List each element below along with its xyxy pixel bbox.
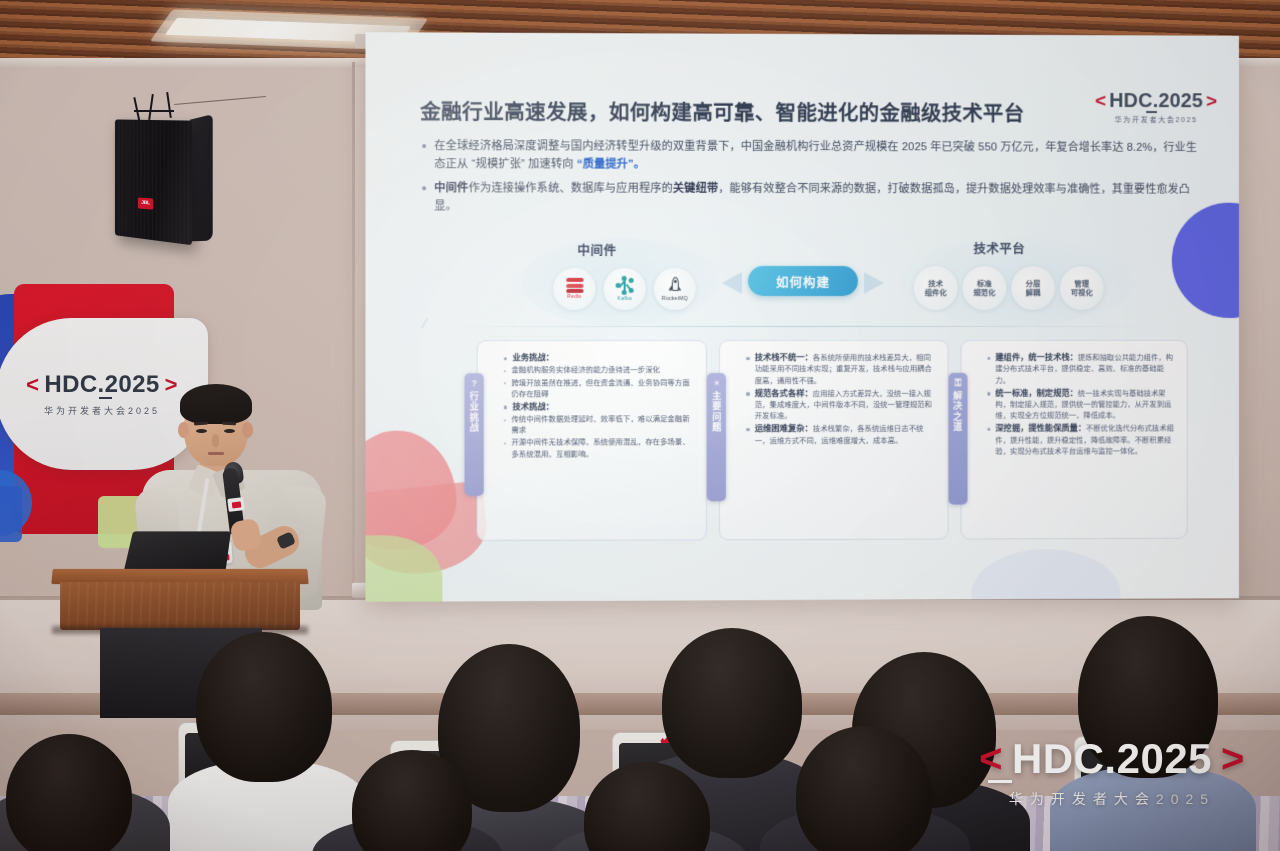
list-bullet-icon [746, 392, 749, 395]
slide-header: 金融行业高速发展，如何构建高可靠、智能进化的金融级技术平台 < HDC.2025… [420, 81, 1217, 127]
kafka-label: Kafka [617, 296, 631, 302]
panel-list-item: 技术栈不统一：各系统所使用的技术栈差异大，相同功能采用不同技术实现；重复开发，技… [746, 351, 937, 386]
capability-line1: 标准 [977, 279, 992, 288]
panel-list-item: 建组件，统一技术栈：提炼和抽取公共能力组件，构建分布式技术平台，提供稳定、高效、… [987, 351, 1177, 386]
panel-list-item: 统一标准，制定规范：统一技术实现与基础技术架构，制定接入规范，提供统一的管控能力… [987, 386, 1177, 421]
capability-chip: 管理 可视化 [1060, 266, 1104, 310]
capability-line2: 规范化 [973, 288, 995, 297]
panel-list-text: 建组件，统一技术栈：提炼和抽取公共能力组件，构建分布式技术平台，提供稳定、高效、… [995, 351, 1176, 386]
presenter-mouth [208, 452, 224, 455]
standee-blue-square [0, 486, 22, 542]
bullet-item: 中间件作为连接操作系统、数据库与应用程序的关键纽带，能够有效整合不同来源的数据，… [422, 180, 1199, 218]
panel-tab-label: 解决之道 [953, 391, 962, 431]
sun-icon: ☀ [713, 379, 721, 388]
jbl-logo-badge: JBL [138, 197, 153, 209]
speaker-rig-strap-3 [166, 92, 172, 118]
chevron-left-icon: < [26, 372, 39, 398]
panel-tab-char: 题 [712, 422, 721, 432]
panel-list-text: 深挖掘，提性能保质量：不断优化迭代分布式技术组件，提升性能，提升稳定性，降低故障… [995, 422, 1176, 457]
watermark-subtitle: 华为开发者大会2025 [962, 789, 1262, 809]
bullet-text: 中间件作为连接操作系统、数据库与应用程序的关键纽带，能够有效整合不同来源的数据，… [434, 180, 1199, 218]
chevron-right-icon: > [1221, 737, 1245, 782]
audience-member-head [796, 726, 932, 851]
panel-list-item: 规范各式各样：应用接入方式差异大，没统一接入规范，集成难度大，中间件版本不同，没… [746, 387, 937, 422]
bullet-segment: 中间件 [434, 183, 468, 195]
panel-main-problems: ☀ 主要问题 技术栈不统一：各系统所使用的技术栈差异大，相同功能采用不同技术实现… [719, 340, 948, 540]
panel-tab-char: 之 [953, 411, 962, 421]
question-mark-icon: ? [471, 379, 476, 388]
jbl-speaker: JBL [108, 92, 228, 252]
panel-list-item: 业务挑战： [504, 351, 696, 364]
microphone-flag [227, 497, 244, 512]
panel-list-text: 传统中间件数据处理延时、效率低下，难以满足金融新需求 [511, 413, 696, 436]
watermark-logo-text: HDC.2025 [1012, 735, 1212, 783]
list-bullet-icon [504, 442, 506, 444]
diagram-baseline [436, 326, 1166, 327]
audience-member-head [196, 632, 332, 782]
speaker-grille [115, 119, 192, 245]
panel-list-text: 规范各式各样：应用接入方式差异大，没统一接入规范，集成难度大，中间件版本不同，没… [755, 387, 938, 422]
chevron-right-icon: > [1206, 91, 1217, 113]
panel-tab-char: 要 [712, 402, 721, 412]
capability-line1: 技术 [928, 279, 943, 288]
panel-tab-main-problems: ☀ 主要问题 [707, 373, 726, 501]
slide-hdc-logo: < HDC.2025 > 华为开发者大会2025 [1095, 90, 1217, 125]
bullet-segment: 作为连接操作系统、数据库与应用程序的 [468, 183, 672, 195]
bullet-segment: “质量提升”。 [577, 159, 645, 171]
presenter-ear-right [242, 422, 253, 438]
panel-list-text: 运维困难复杂：技术栈繁杂，各系统运维日志不统一，运维方式不同，运维难度增大，成本… [755, 422, 938, 446]
list-bullet-icon [504, 419, 506, 421]
presenter-ear-left [178, 422, 189, 438]
list-bullet-icon [987, 356, 990, 359]
panel-list-item: 跨境开放虽然在推进，但在资金流通、业务协同等方面仍存在阻碍 [504, 377, 696, 399]
hdc-watermark: < HDC.2025 > 华为开发者大会2025 [962, 735, 1262, 823]
wall-seam [352, 62, 355, 662]
architecture-diagram: 中间件 技术平台 Redis [424, 234, 1176, 331]
capability-line2: 组件化 [925, 288, 947, 297]
capability-chip: 标准 规范化 [963, 266, 1007, 310]
middleware-group-label: 中间件 [577, 240, 616, 259]
panel-tab-label: 行业挑战 [469, 392, 478, 433]
panel-list-text: 技术栈不统一：各系统所使用的技术栈差异大，相同功能采用不同技术实现；重复开发，技… [755, 351, 938, 386]
bullet-text: 在全球经济格局深度调整与国内经济转型升级的双重背景下，中国金融机构行业总资产规模… [434, 137, 1199, 175]
presenter-eye-left [196, 429, 207, 433]
bullet-segment: 在全球经济格局深度调整与国内经济转型升级的双重背景下，中国金融机构行业总资产规模… [434, 140, 1197, 171]
panel-list-text: 技术挑战： [512, 400, 554, 413]
speaker-rig-strap-2 [148, 94, 154, 120]
panel-list-item: 传统中间件数据处理延时、效率低下，难以满足金融新需求 [504, 413, 696, 436]
bullet-item: 在全球经济格局深度调整与国内经济转型升级的双重背景下，中国金融机构行业总资产规模… [422, 137, 1199, 175]
panel-solutions: ⚿ 解决之道 建组件，统一技术栈：提炼和抽取公共能力组件，构建分布式技术平台，提… [960, 340, 1187, 540]
capability-line2: 可视化 [1071, 288, 1093, 297]
rocketmq-label: RocketMQ [662, 295, 688, 301]
panel-body: 业务挑战：金融机构服务实体经济的能力亟待进一步深化跨境开放虽然在推进，但在资金流… [504, 351, 696, 459]
speaker-side-panel [190, 114, 213, 241]
redis-icon [566, 278, 583, 292]
speaker-front-baffle [115, 119, 192, 245]
presentation-slide: 金融行业高速发展，如何构建高可靠、智能进化的金融级技术平台 < HDC.2025… [365, 32, 1239, 602]
bullet-dot-icon [422, 144, 426, 148]
key-icon: ⚿ [955, 379, 961, 388]
presenter-hair [180, 384, 252, 424]
redis-chip: Redis [553, 268, 595, 310]
list-bullet-icon [504, 357, 507, 360]
chevron-left-icon: < [979, 737, 1003, 782]
kafka-icon [616, 276, 634, 295]
watermark-subtitle-year: 2025 [1156, 791, 1215, 807]
audience-member-head [662, 628, 802, 778]
panel-body: 技术栈不统一：各系统所使用的技术栈差异大，相同功能采用不同技术实现；重复开发，技… [746, 351, 937, 446]
capability-line2: 解耦 [1026, 288, 1041, 297]
panel-tab-label: 主要问题 [712, 391, 721, 432]
panel-list-item: 金融机构服务实体经济的能力亟待进一步深化 [504, 365, 696, 376]
panel-tab-industry-challenges: ? 行业挑战 [465, 373, 484, 496]
panel-list-item: 技术挑战： [504, 400, 696, 413]
panel-list-item: 运维困难复杂：技术栈繁杂，各系统运维日志不统一，运维方式不同，运维难度增大，成本… [746, 422, 937, 446]
slide-panel-row: ? 行业挑战 业务挑战：金融机构服务实体经济的能力亟待进一步深化跨境开放虽然在推… [477, 340, 1188, 541]
panel-tab-char: 业 [469, 402, 478, 412]
presenter-nose [212, 434, 219, 447]
how-to-build-pill: 如何构建 [748, 266, 858, 296]
panel-list-text: 业务挑战： [512, 351, 554, 364]
capability-chip: 技术 组件化 [914, 266, 958, 310]
panel-list-text: 跨境开放虽然在推进，但在资金流通、业务协同等方面仍存在阻碍 [511, 377, 696, 399]
panel-list-item: 深挖掘，提性能保质量：不断优化迭代分布式技术组件，提升性能，提升稳定性，降低故障… [987, 422, 1177, 457]
platform-capability-row: 技术 组件化 标准 规范化 分层 解耦 管理 可视化 [914, 266, 1104, 310]
panel-list-item: 开源中间件无技术保障，系统使用混乱，存在多场景、多系统混用，互相影响。 [504, 437, 696, 460]
panel-tab-char: 战 [469, 422, 478, 432]
panel-tab-char: 道 [953, 421, 962, 431]
kafka-chip: Kafka [604, 268, 646, 310]
hdc-logo-text: HDC.2025 [1109, 90, 1203, 113]
arrow-left-icon [722, 272, 742, 294]
list-bullet-icon [987, 428, 990, 431]
rocketmq-icon [668, 276, 681, 294]
bullet-segment: 关键纽带 [673, 183, 718, 195]
chevron-left-icon: < [1095, 90, 1106, 112]
panel-tab-char: 主 [712, 391, 721, 401]
list-bullet-icon [504, 370, 506, 372]
panel-list-text: 金融机构服务实体经济的能力亟待进一步深化 [511, 365, 660, 376]
presenter-eye-right [224, 429, 235, 433]
panel-list-text: 开源中间件无技术保障，系统使用混乱，存在多场景、多系统混用，互相影响。 [511, 437, 696, 460]
redis-label: Redis [567, 294, 581, 300]
panel-tab-char: 解 [953, 391, 962, 401]
conference-photo-scene: JBL 金融行业高速发展，如何构建高可靠、智能进化的金融级技术平台 < HDC.… [0, 0, 1280, 851]
decoration-soft-blue [971, 549, 1120, 602]
bullet-dot-icon [422, 187, 426, 191]
hdc-logo-subtitle: 华为开发者大会2025 [1095, 115, 1217, 125]
rocketmq-chip: RocketMQ [654, 268, 696, 310]
panel-list-text: 统一标准，制定规范：统一技术实现与基础技术架构，制定接入规范，提供统一的管控能力… [995, 386, 1176, 421]
capability-chip: 分层 解耦 [1011, 266, 1055, 310]
panel-tab-solutions: ⚿ 解决之道 [948, 373, 967, 505]
platform-group-label: 技术平台 [973, 238, 1025, 257]
list-bullet-icon [746, 428, 749, 431]
panel-tab-char: 问 [712, 412, 721, 422]
microphone-flag-logo [231, 501, 241, 508]
list-bullet-icon [504, 382, 506, 384]
standee-underscore [99, 397, 112, 399]
capability-line1: 分层 [1026, 279, 1041, 288]
list-bullet-icon [746, 357, 749, 360]
slide-bullet-list: 在全球经济格局深度调整与国内经济转型升级的双重背景下，中国金融机构行业总资产规模… [422, 137, 1199, 223]
panel-tab-char: 决 [953, 401, 962, 411]
panel-tab-char: 挑 [469, 412, 478, 422]
panel-tab-char: 行 [469, 392, 478, 402]
capability-line1: 管理 [1074, 279, 1089, 288]
audience-member-head [6, 734, 132, 851]
panel-body: 建组件，统一技术栈：提炼和抽取公共能力组件，构建分布式技术平台，提供稳定、高效、… [987, 351, 1177, 457]
arrow-right-icon [864, 272, 884, 294]
middleware-icon-row: Redis Kafka [553, 268, 696, 310]
list-bullet-icon [504, 406, 507, 409]
list-bullet-icon [987, 392, 990, 395]
panel-industry-challenges: ? 行业挑战 业务挑战：金融机构服务实体经济的能力亟待进一步深化跨境开放虽然在推… [477, 340, 708, 541]
slide-title: 金融行业高速发展，如何构建高可靠、智能进化的金融级技术平台 [420, 95, 1024, 127]
projection-screen: 金融行业高速发展，如何构建高可靠、智能进化的金融级技术平台 < HDC.2025… [365, 32, 1239, 602]
watermark-subtitle-cn: 华为开发者大会 [1009, 791, 1156, 807]
